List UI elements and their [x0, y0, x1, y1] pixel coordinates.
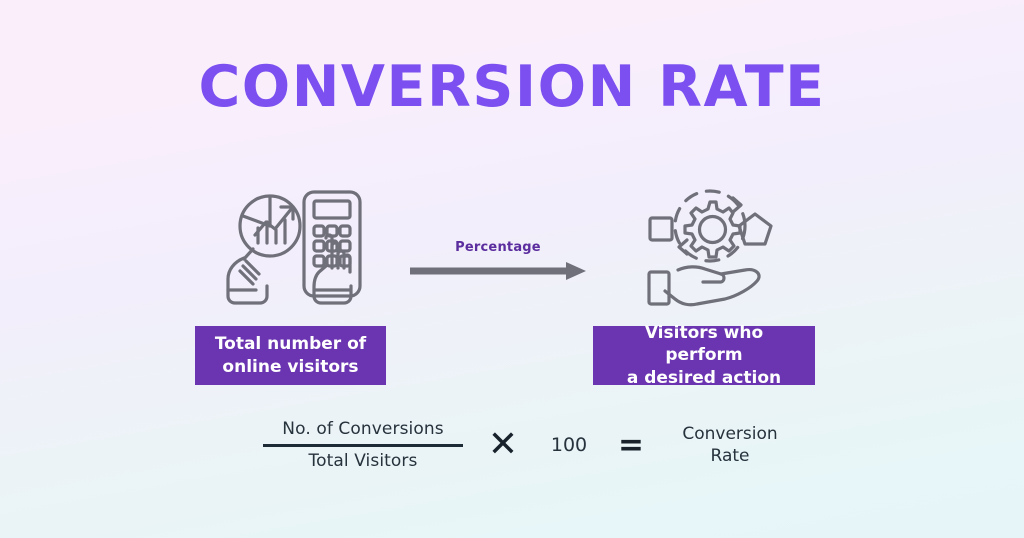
right-label-box: Visitors who perform a desired action: [593, 326, 815, 385]
left-label-box-text: Total number of online visitors: [215, 333, 366, 378]
formula-result-label: Conversion Rate: [662, 423, 798, 467]
multiply-icon: ✕: [468, 427, 538, 463]
right-label-box-text: Visitors who perform a desired action: [605, 322, 803, 389]
hand-holding-gear-icon: [645, 186, 775, 308]
fraction-numerator: No. of Conversions: [282, 419, 443, 444]
analytics-magnifier-calculator-glyph: [222, 186, 370, 308]
formula-result-line-2: Rate: [711, 446, 750, 466]
fraction-denominator: Total Visitors: [309, 451, 418, 471]
left-label-box: Total number of online visitors: [195, 326, 386, 385]
left-label-line-1: Total number of: [215, 334, 366, 354]
flow-arrow-group: Percentage: [408, 240, 588, 280]
hand-holding-gear-glyph: [645, 186, 775, 308]
right-arrow-icon: [408, 262, 588, 280]
left-label-line-2: online visitors: [222, 357, 358, 377]
arrow-label: Percentage: [408, 240, 588, 255]
formula-fraction: No. of Conversions Total Visitors: [258, 419, 468, 471]
formula-result-line-1: Conversion: [682, 424, 777, 444]
right-label-line-2: a desired action: [627, 368, 781, 388]
equals-icon: =: [600, 430, 662, 461]
right-label-line-1: Visitors who perform: [645, 323, 763, 365]
page-title: CONVERSION RATE: [0, 56, 1024, 119]
conversion-rate-formula: No. of Conversions Total Visitors ✕ 100 …: [258, 410, 798, 480]
formula-multiplier: 100: [538, 434, 600, 456]
analytics-magnifier-calculator-icon: [222, 186, 370, 308]
fraction-bar: [263, 444, 463, 447]
conversion-rate-infographic: CONVERSION RATE: [0, 0, 1024, 538]
